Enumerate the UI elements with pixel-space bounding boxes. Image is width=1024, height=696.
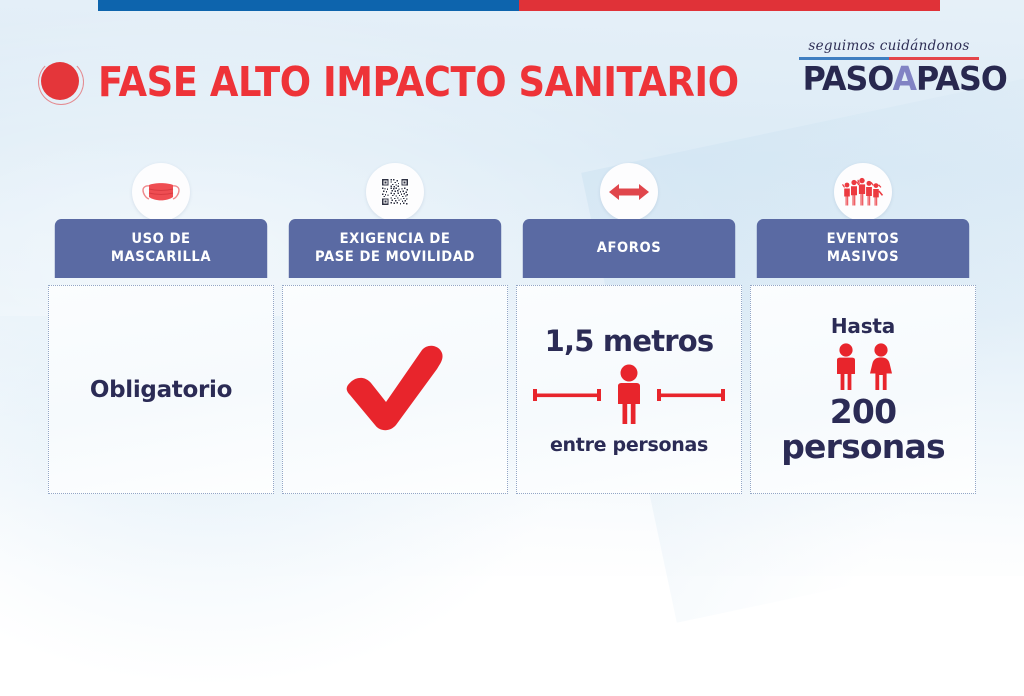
- column-pase-de-movilidad: EXIGENCIA DE PASE DE MOVILIDAD: [282, 219, 508, 494]
- aforos-distance-value: 1,5 metros: [545, 324, 714, 358]
- crowd-icon: [834, 163, 892, 221]
- paso-a-paso-logo: seguimos cuidándonos PASOAPASO: [799, 38, 979, 95]
- column-header-line1: EVENTOS: [827, 231, 900, 249]
- column-uso-de-mascarilla: USO DE MASCARILLA Obligatorio: [48, 219, 274, 494]
- face-mask-icon: [132, 163, 190, 221]
- check-mark-icon: [340, 341, 450, 438]
- column-header-aforos: AFOROS: [523, 219, 735, 278]
- flag-bar-blue: [98, 0, 519, 11]
- logo-word-left: PASO: [803, 59, 893, 98]
- measures-grid: USO DE MASCARILLA Obligatorio: [48, 219, 976, 494]
- flag-bar: [98, 0, 940, 11]
- red-circle-bullet-icon: [38, 59, 84, 105]
- logo-word-accent: A: [892, 59, 916, 98]
- column-body-uso-de-mascarilla: Obligatorio: [48, 285, 274, 494]
- person-female-icon: [867, 343, 895, 391]
- column-eventos-masivos: EVENTOS MASIVOS Hasta 200 personas: [750, 219, 976, 494]
- qr-code-icon: [366, 163, 424, 221]
- aforos-caption: entre personas: [550, 434, 708, 456]
- title-row: FASE ALTO IMPACTO SANITARIO: [38, 52, 810, 112]
- column-header-line1: EXIGENCIA DE: [340, 231, 451, 249]
- person-icon: [611, 364, 647, 426]
- measure-bar-right-icon: [657, 385, 725, 405]
- double-arrow-icon: [600, 163, 658, 221]
- eventos-prefix: Hasta: [831, 314, 895, 338]
- logo-tagline: seguimos cuidándonos: [799, 38, 979, 54]
- eventos-number: 200: [830, 395, 896, 430]
- column-header-uso-de-mascarilla: USO DE MASCARILLA: [55, 219, 267, 278]
- column-header-pase-de-movilidad: EXIGENCIA DE PASE DE MOVILIDAD: [289, 219, 501, 278]
- infographic-poster: FASE ALTO IMPACTO SANITARIO seguimos cui…: [0, 0, 1024, 576]
- distance-diagram: [533, 364, 725, 426]
- logo-wordmark: PASOAPASO: [803, 62, 976, 95]
- column-body-eventos-masivos: Hasta 200 personas: [750, 285, 976, 494]
- column-header-line2: PASE DE MOVILIDAD: [315, 249, 475, 267]
- column-header-line2: MASIVOS: [827, 249, 899, 267]
- bullet-dot: [41, 62, 79, 100]
- column-header-line2: MASCARILLA: [111, 249, 211, 267]
- mascarilla-value: Obligatorio: [90, 377, 232, 403]
- column-body-pase-de-movilidad: [282, 285, 508, 494]
- logo-word-right: PASO: [916, 59, 1007, 98]
- column-body-aforos: 1,5 metros: [516, 285, 742, 494]
- column-header-line1: USO DE: [131, 231, 190, 249]
- person-male-icon: [832, 343, 860, 391]
- flag-bar-red: [519, 0, 940, 11]
- eventos-unit: personas: [781, 430, 945, 465]
- measure-bar-left-icon: [533, 385, 601, 405]
- column-aforos: AFOROS 1,5 metros: [516, 219, 742, 494]
- column-header-line1: AFOROS: [597, 240, 662, 258]
- column-header-eventos-masivos: EVENTOS MASIVOS: [757, 219, 969, 278]
- page-title: FASE ALTO IMPACTO SANITARIO: [98, 62, 739, 103]
- two-people-icons: [832, 343, 895, 391]
